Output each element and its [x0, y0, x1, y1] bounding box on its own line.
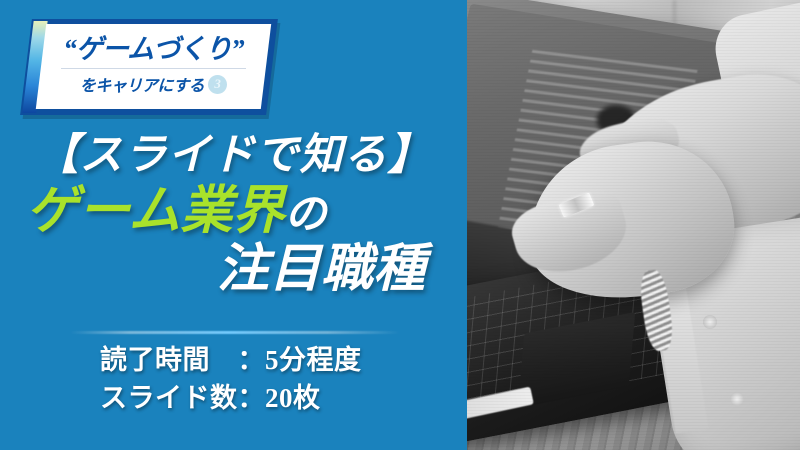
- series-badge: “ゲームづくり” をキャリアにする 3: [26, 19, 272, 115]
- headline-line-2-green: ゲーム業界: [26, 183, 284, 240]
- meta-reading-time: 読了時間 ：5分程度: [100, 341, 362, 379]
- headline-block: 【スライドで知る】 ゲーム業界の 注目職種: [0, 134, 467, 296]
- hero-photo-hands-typing: [467, 0, 800, 450]
- badge-subtitle-row: をキャリアにする 3: [80, 72, 227, 96]
- badge-subtitle: をキャリアにする: [80, 72, 204, 96]
- headline-line-2-particle: の: [284, 192, 326, 238]
- meta-divider: [70, 331, 400, 334]
- meta-info-block: 読了時間 ：5分程度 スライド数：20枚: [100, 341, 362, 418]
- badge-content: “ゲームづくり” をキャリアにする 3: [41, 24, 266, 109]
- badge-episode-number: 3: [208, 75, 227, 94]
- left-blue-panel: “ゲームづくり” をキャリアにする 3 【スライドで知る】 ゲーム業界の 注目職…: [0, 0, 467, 450]
- photo-grain-overlay: [467, 0, 800, 450]
- badge-title: “ゲームづくり”: [63, 36, 243, 63]
- headline-line-2: ゲーム業界の: [0, 186, 467, 238]
- headline-line-3: 注目職種: [0, 244, 467, 296]
- badge-divider-rule: [61, 68, 246, 69]
- thumbnail-canvas: “ゲームづくり” をキャリアにする 3 【スライドで知る】 ゲーム業界の 注目職…: [0, 0, 800, 450]
- headline-line-1: 【スライドで知る】: [0, 134, 467, 177]
- meta-slide-count: スライド数：20枚: [100, 379, 362, 417]
